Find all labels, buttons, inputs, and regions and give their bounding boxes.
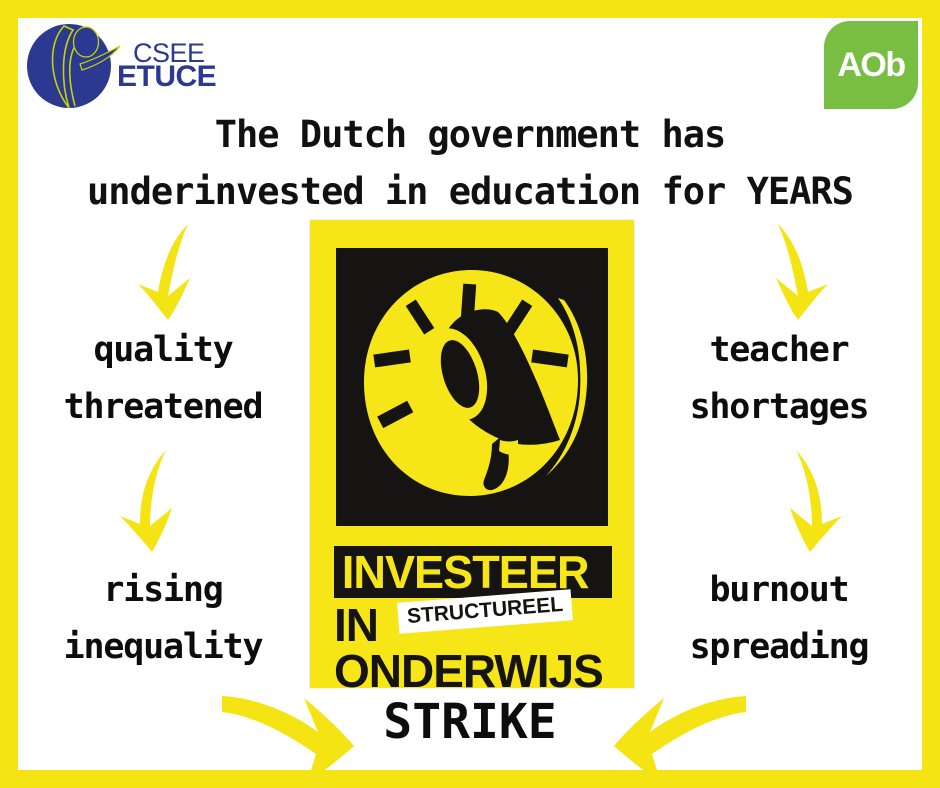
csee-etuce-logo: CSEE ETUCE [25, 18, 220, 114]
consequence-line-2: spreading [636, 619, 922, 676]
consequence-line-1: quality [20, 322, 306, 379]
investeer-in-onderwijs-poster: INVESTEER IN ONDERWIJS STRUCTUREEL [310, 220, 634, 688]
page-title: The Dutch government has underinvested i… [18, 106, 922, 221]
consequence-burnout-spreading: burnout spreading [636, 562, 922, 675]
infographic-inner-panel: CSEE ETUCE AOb The Dutch government has … [18, 18, 922, 770]
consequence-line-1: burnout [636, 562, 922, 619]
consequence-quality-threatened: quality threatened [20, 322, 306, 435]
curved-down-arrow-icon [756, 446, 866, 556]
consequence-teacher-shortages: teacher shortages [636, 322, 922, 435]
curved-down-arrow-icon [112, 216, 222, 326]
headline-line-1: The Dutch government has [18, 106, 922, 163]
outcome-strike-label: STRIKE [270, 694, 670, 750]
person-in-circle-icon [25, 20, 121, 112]
consequence-line-1: teacher [636, 322, 922, 379]
consequence-line-1: rising [20, 562, 306, 619]
curved-down-arrow-icon [744, 216, 854, 326]
consequence-line-2: shortages [636, 379, 922, 436]
poster-image-box [336, 248, 608, 526]
csee-etuce-wordmark: CSEE ETUCE [117, 38, 222, 100]
consequence-rising-inequality: rising inequality [20, 562, 306, 675]
megaphone-in-circle-icon [336, 248, 608, 526]
aob-logo: AOb [824, 21, 918, 109]
consequence-line-2: inequality [20, 619, 306, 676]
aob-wordmark: AOb [824, 21, 918, 109]
etuce-label: ETUCE [117, 60, 216, 94]
curved-down-arrow-icon [96, 446, 206, 556]
headline-line-2: underinvested in education for YEARS [18, 163, 922, 220]
consequence-line-2: threatened [20, 379, 306, 436]
infographic-canvas: CSEE ETUCE AOb The Dutch government has … [0, 0, 940, 788]
